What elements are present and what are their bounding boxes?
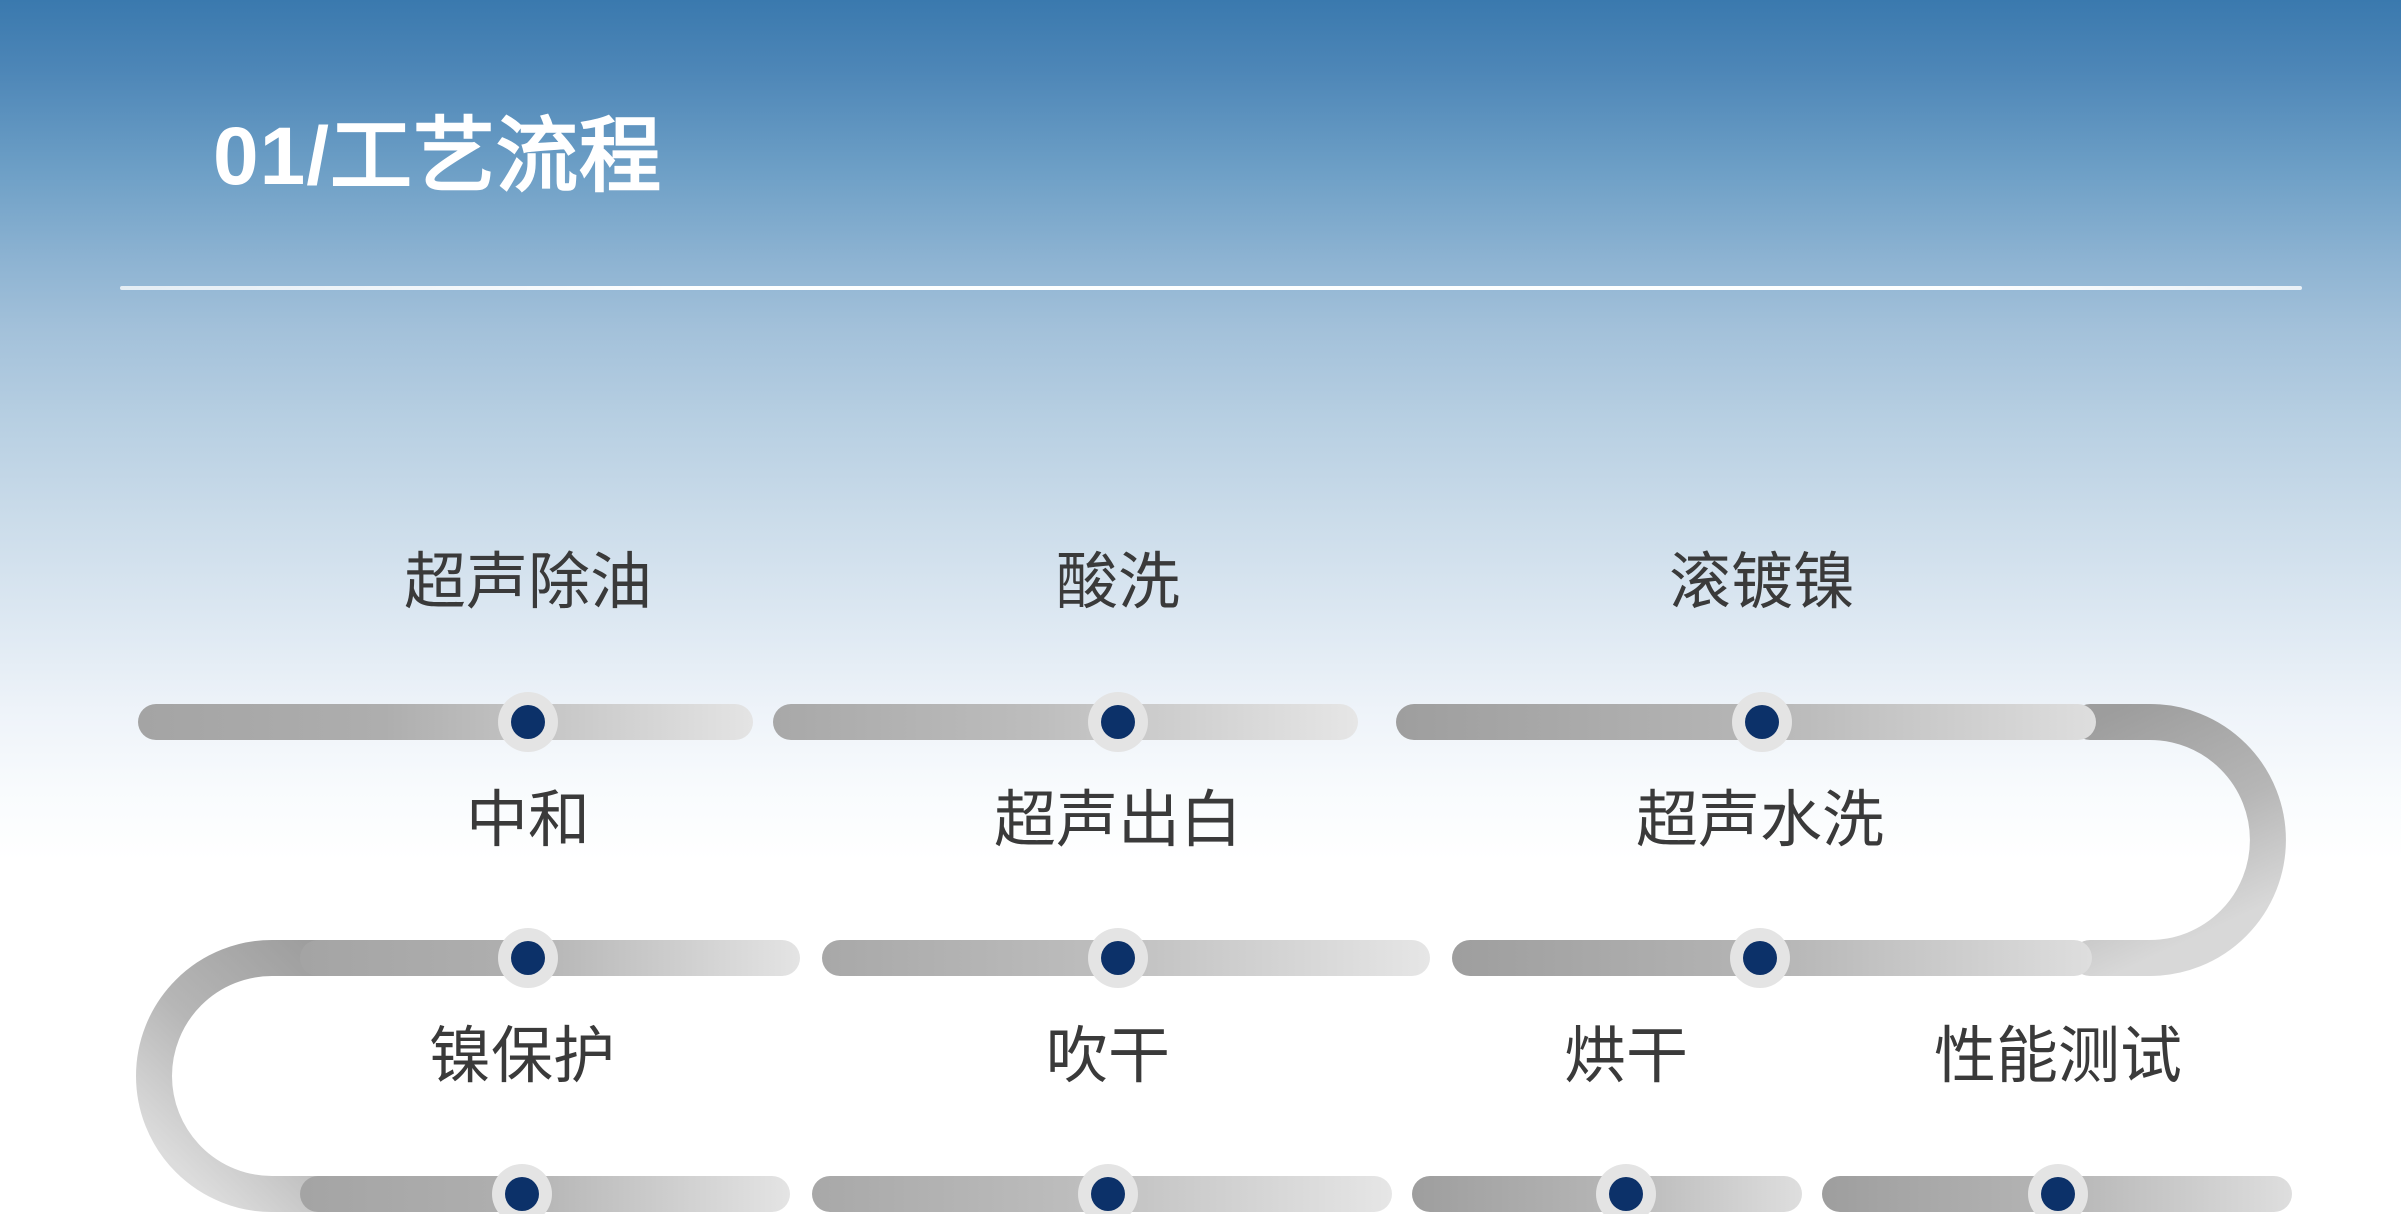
step-label-7: 镍保护	[429, 1026, 615, 1088]
step-label-8: 吹干	[1046, 1026, 1170, 1088]
step-label-6: 超声水洗	[1636, 790, 1884, 852]
step-label-1: 超声除油	[404, 552, 652, 614]
step-label-10: 性能测试	[1934, 1026, 2182, 1088]
row-1-labels: 超声除油 酸洗 滚镀镍	[0, 552, 2401, 642]
row-2-rails	[300, 940, 2092, 976]
page-title: 01/工艺流程	[213, 112, 662, 202]
step-node-6[interactable]	[1730, 928, 1790, 988]
step-label-3: 滚镀镍	[1669, 552, 1855, 614]
step-label-9: 烘干	[1564, 1026, 1688, 1088]
row-3-labels: 镍保护 吹干 烘干 性能测试	[0, 1026, 2401, 1116]
node-dot-icon	[511, 941, 545, 975]
node-dot-icon	[1101, 705, 1135, 739]
step-label-4: 中和	[466, 790, 590, 852]
rail-segment-1	[138, 704, 753, 740]
title-divider	[120, 286, 2302, 290]
node-dot-icon	[1101, 941, 1135, 975]
step-node-5[interactable]	[1088, 928, 1148, 988]
node-dot-icon	[1609, 1177, 1643, 1211]
step-node-3[interactable]	[1732, 692, 1792, 752]
step-node-1[interactable]	[498, 692, 558, 752]
node-dot-icon	[1743, 941, 1777, 975]
step-label-5: 超声出白	[994, 790, 1242, 852]
step-node-10[interactable]	[2028, 1164, 2088, 1214]
row-3-rails	[300, 1176, 2292, 1212]
rail-segment-2	[773, 704, 1358, 740]
node-dot-icon	[511, 705, 545, 739]
step-node-4[interactable]	[498, 928, 558, 988]
step-node-7[interactable]	[492, 1164, 552, 1214]
slide-canvas: 01/工艺流程	[0, 0, 2401, 1214]
node-dot-icon	[1091, 1177, 1125, 1211]
step-node-2[interactable]	[1088, 692, 1148, 752]
step-node-8[interactable]	[1078, 1164, 1138, 1214]
row-2-labels: 中和 超声出白 超声水洗	[0, 790, 2401, 880]
node-dot-icon	[1745, 705, 1779, 739]
step-label-2: 酸洗	[1056, 552, 1180, 614]
node-dot-icon	[505, 1177, 539, 1211]
step-node-9[interactable]	[1596, 1164, 1656, 1214]
node-dot-icon	[2041, 1177, 2075, 1211]
